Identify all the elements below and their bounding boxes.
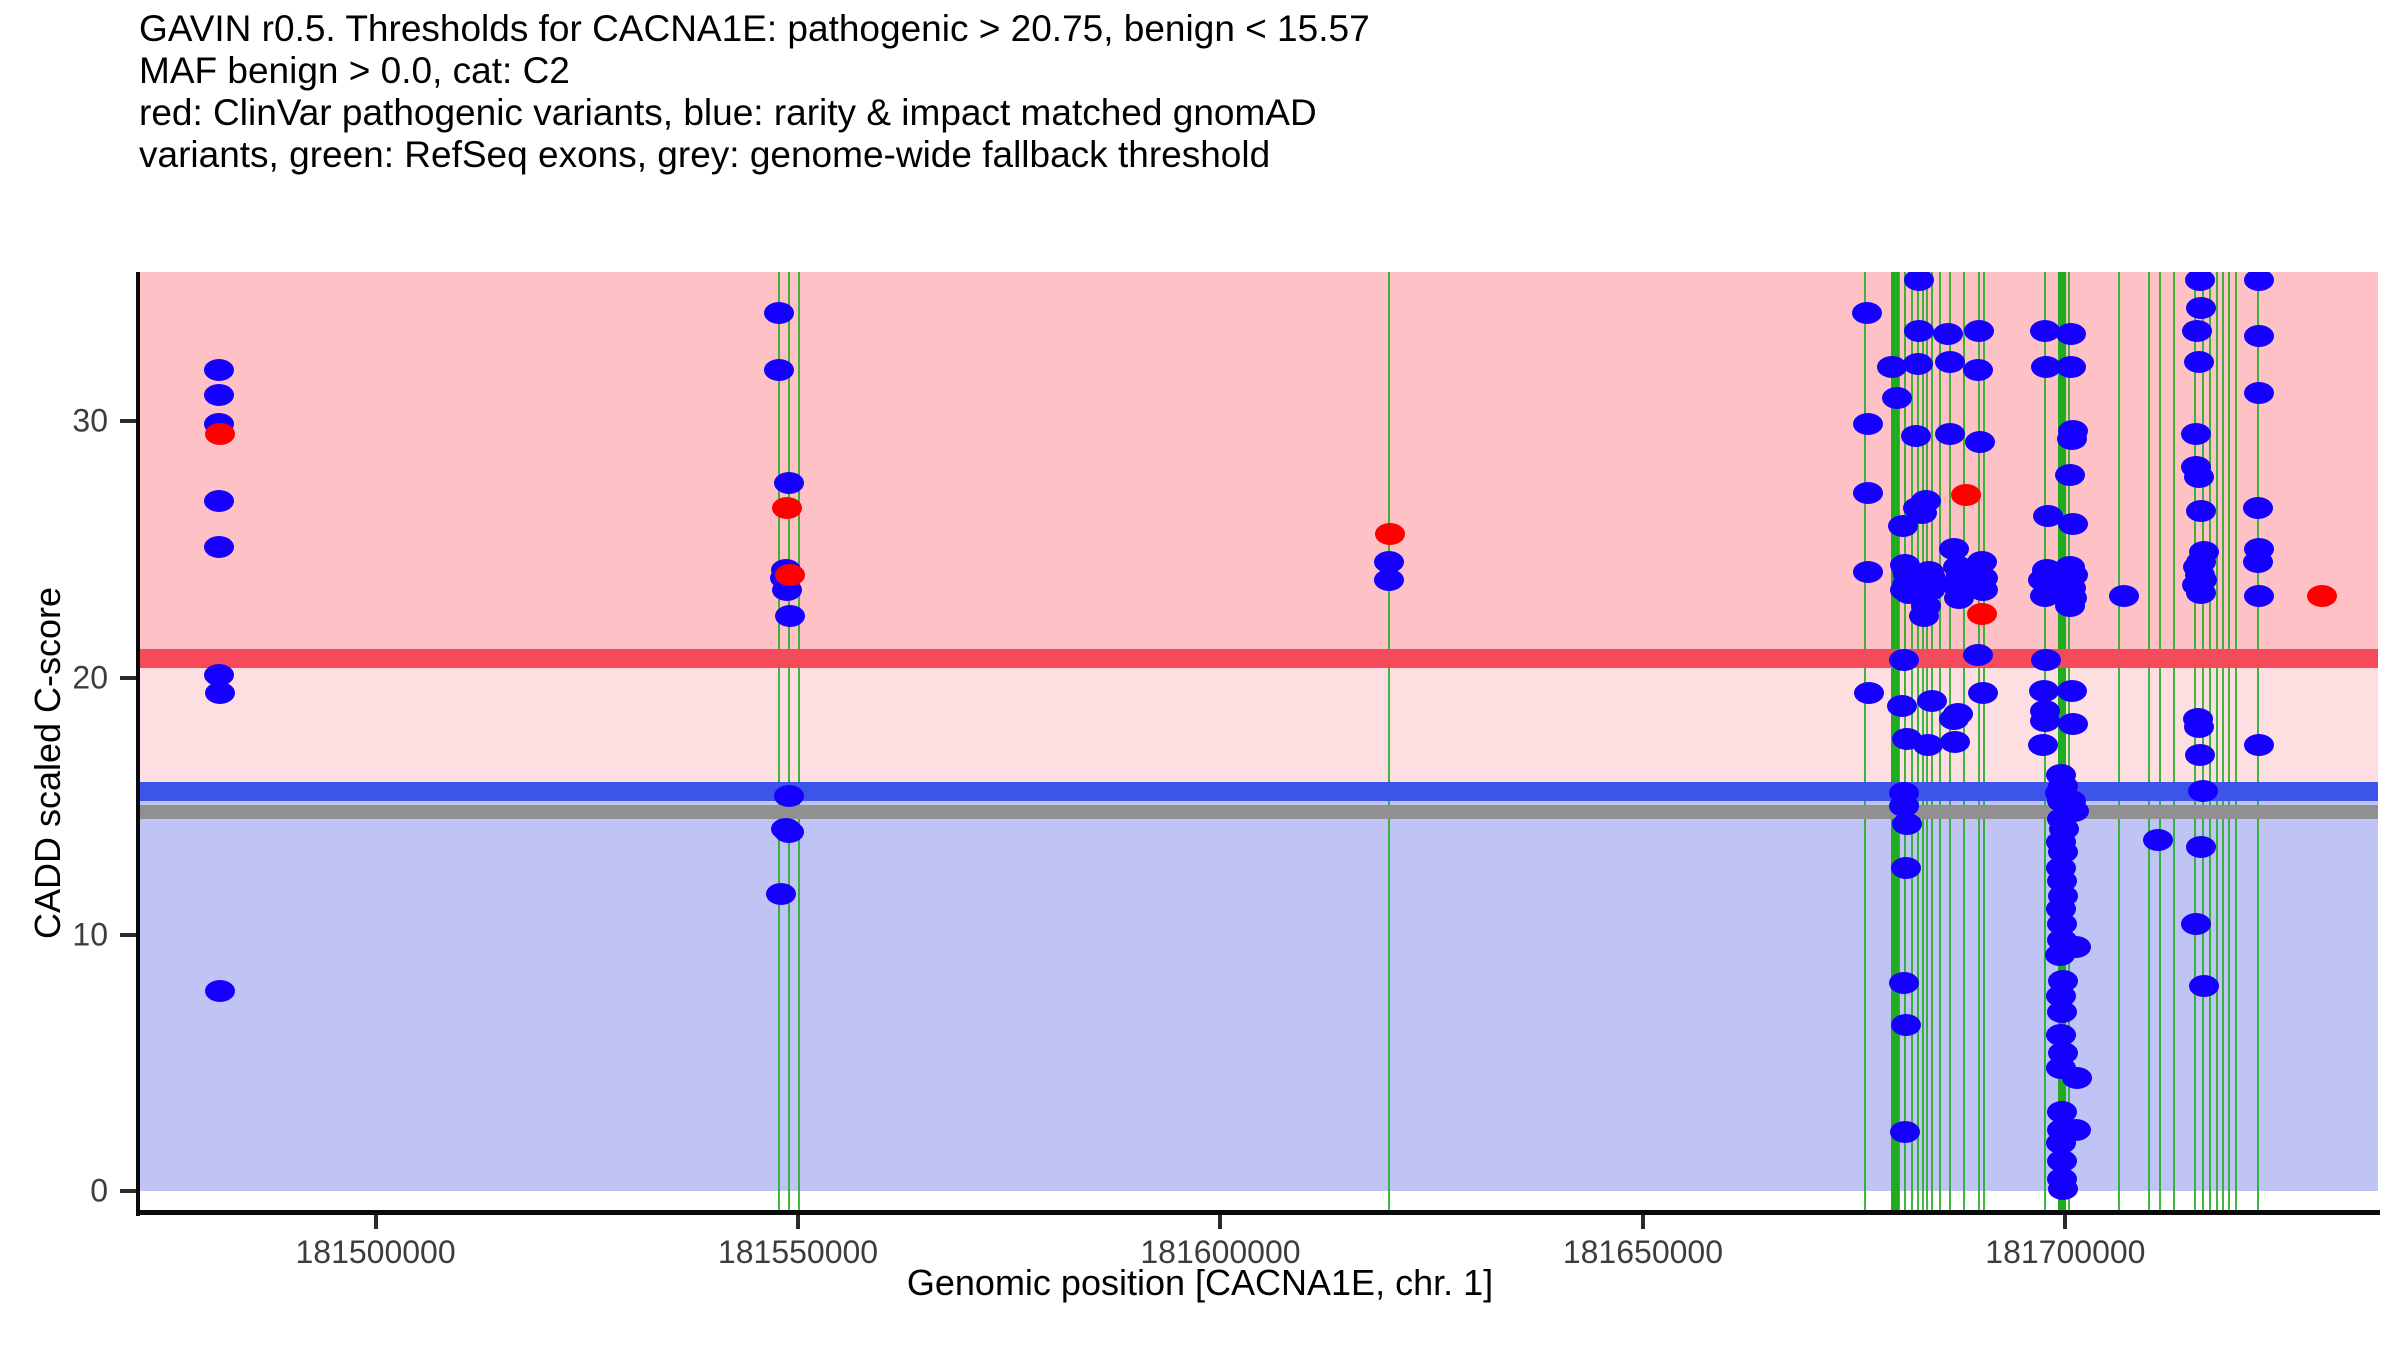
exon-line xyxy=(788,272,790,1212)
gnomad-point xyxy=(2028,734,2058,756)
gnomad-point xyxy=(204,359,234,381)
gnomad-point xyxy=(1891,1014,1921,1036)
x-axis-line xyxy=(136,1210,2380,1215)
gnomad-point xyxy=(204,490,234,512)
y-axis-tick-label: 0 xyxy=(0,1173,108,1210)
exon-line xyxy=(2202,272,2204,1212)
title-line-3: red: ClinVar pathogenic variants, blue: … xyxy=(139,92,2339,134)
gnomad-point xyxy=(2189,975,2219,997)
gnomad-point xyxy=(1891,857,1921,879)
gnomad-point xyxy=(1892,813,1922,835)
gnomad-point xyxy=(2029,680,2059,702)
gnomad-point xyxy=(1933,323,1963,345)
gnomad-point xyxy=(2056,323,2086,345)
gnomad-point xyxy=(2184,351,2214,373)
gnomad-point xyxy=(2143,829,2173,851)
title-line-4: variants, green: RefSeq exons, grey: gen… xyxy=(139,134,2339,176)
gnomad-point xyxy=(1963,644,1993,666)
gnomad-point xyxy=(2109,585,2139,607)
exon-line xyxy=(2194,272,2196,1212)
exon-line xyxy=(2222,272,2224,1212)
clinvar-point xyxy=(2307,585,2337,607)
clinvar-point xyxy=(1967,603,1997,625)
exon-line xyxy=(778,272,780,1212)
exon-line xyxy=(1978,272,1980,1212)
exon-line xyxy=(2209,272,2211,1212)
gnomad-point xyxy=(1965,431,1995,453)
x-axis-tick xyxy=(796,1215,800,1229)
gnomad-point xyxy=(1913,734,1943,756)
exon-line xyxy=(2148,272,2150,1212)
gnomad-point xyxy=(2185,744,2215,766)
title-line-1: GAVIN r0.5. Thresholds for CACNA1E: path… xyxy=(139,8,2339,50)
gnomad-point xyxy=(1911,490,1941,512)
gnomad-point xyxy=(2185,272,2215,291)
gnomad-point xyxy=(2186,836,2216,858)
gnomad-point xyxy=(2058,713,2088,735)
gnomad-point xyxy=(2058,513,2088,535)
gnomad-point xyxy=(2031,649,2061,671)
benign-band xyxy=(139,792,2378,1192)
x-axis-tick xyxy=(374,1215,378,1229)
exon-line xyxy=(2173,272,2175,1212)
gnomad-point xyxy=(1917,690,1947,712)
exon-line xyxy=(798,272,800,1212)
gnomad-point xyxy=(1940,731,1970,753)
gnomad-point xyxy=(766,883,796,905)
gnomad-point xyxy=(774,785,804,807)
title-line-2: MAF benign > 0.0, cat: C2 xyxy=(139,50,2339,92)
gnomad-point xyxy=(2244,585,2274,607)
y-axis-tick xyxy=(120,676,136,680)
y-axis-tick xyxy=(120,1189,136,1193)
gnomad-point xyxy=(774,821,804,843)
x-axis-tick xyxy=(1641,1215,1645,1229)
gnomad-point xyxy=(774,472,804,494)
plot-title-block: GAVIN r0.5. Thresholds for CACNA1E: path… xyxy=(139,8,2339,176)
gnomad-point xyxy=(764,359,794,381)
gnomad-point xyxy=(2188,780,2218,802)
gnomad-point xyxy=(2244,325,2274,347)
gnomad-point xyxy=(2057,680,2087,702)
exon-line xyxy=(2159,272,2161,1212)
gnomad-point xyxy=(1889,649,1919,671)
x-axis-tick xyxy=(1218,1215,1222,1229)
gnomad-point xyxy=(2061,1119,2091,1141)
gnomad-point xyxy=(2186,500,2216,522)
gnomad-point xyxy=(1853,482,1883,504)
gnomad-point xyxy=(1854,682,1884,704)
x-axis-label: Genomic position [CACNA1E, chr. 1] xyxy=(0,1262,2400,1304)
gnomad-point xyxy=(2047,1001,2077,1023)
gnomad-point xyxy=(1968,682,1998,704)
exon-line xyxy=(2118,272,2120,1212)
exon-line xyxy=(1388,272,1390,1212)
benign-threshold-line xyxy=(139,782,2378,801)
y-axis-line xyxy=(136,272,140,1216)
gnomad-point xyxy=(2181,913,2211,935)
gnomad-point xyxy=(1882,387,1912,409)
gnomad-point xyxy=(2244,734,2274,756)
gnomad-point xyxy=(2184,716,2214,738)
gnomad-point xyxy=(2181,423,2211,445)
gnomad-point xyxy=(1935,423,1965,445)
exon-line xyxy=(1983,272,1985,1212)
gnomad-point xyxy=(2048,1178,2078,1200)
gnomad-point xyxy=(2055,464,2085,486)
x-axis-tick xyxy=(2063,1215,2067,1229)
gnomad-point xyxy=(1374,569,1404,591)
y-axis-tick xyxy=(120,933,136,937)
gnomad-point xyxy=(2186,582,2216,604)
gnomad-point xyxy=(1939,708,1969,730)
gnomad-point xyxy=(2244,382,2274,404)
gnomad-point xyxy=(204,536,234,558)
exon-line xyxy=(2228,272,2230,1212)
clinvar-point xyxy=(205,423,235,445)
gnomad-point xyxy=(2057,428,2087,450)
y-axis-tick-label: 30 xyxy=(0,402,108,439)
plot-root: GAVIN r0.5. Thresholds for CACNA1E: path… xyxy=(0,0,2400,1350)
y-axis-tick xyxy=(120,419,136,423)
fallback-threshold-line xyxy=(139,805,2378,819)
gnomad-point xyxy=(2244,272,2274,291)
gnomad-point xyxy=(1852,302,1882,324)
gnomad-point xyxy=(2186,297,2216,319)
gnomad-point xyxy=(1853,413,1883,435)
plot-panel xyxy=(139,272,2378,1212)
gnomad-point xyxy=(1963,359,1993,381)
exon-line xyxy=(2216,272,2218,1212)
y-axis-label: CADD scaled C-score xyxy=(27,493,69,1033)
exon-line xyxy=(2235,272,2237,1212)
